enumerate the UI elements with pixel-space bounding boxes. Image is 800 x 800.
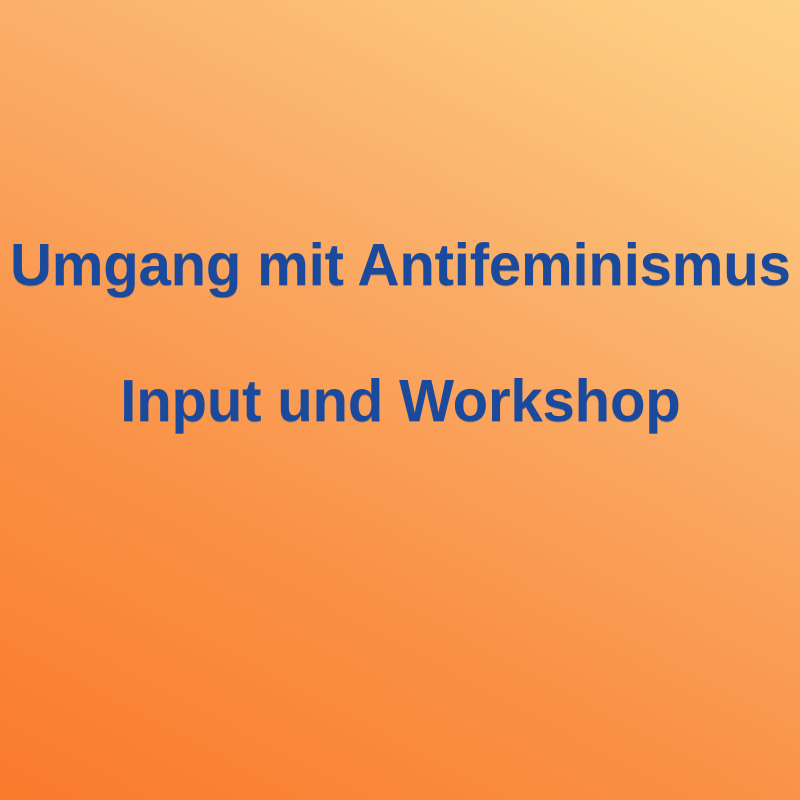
title-slide: Umgang mit Antifeminismus Input und Work… [0, 0, 800, 800]
slide-title: Umgang mit Antifeminismus [10, 236, 791, 295]
slide-subtitle: Input und Workshop [120, 372, 680, 431]
title-block: Umgang mit Antifeminismus Input und Work… [0, 236, 800, 431]
title-line-spacer [400, 295, 401, 372]
